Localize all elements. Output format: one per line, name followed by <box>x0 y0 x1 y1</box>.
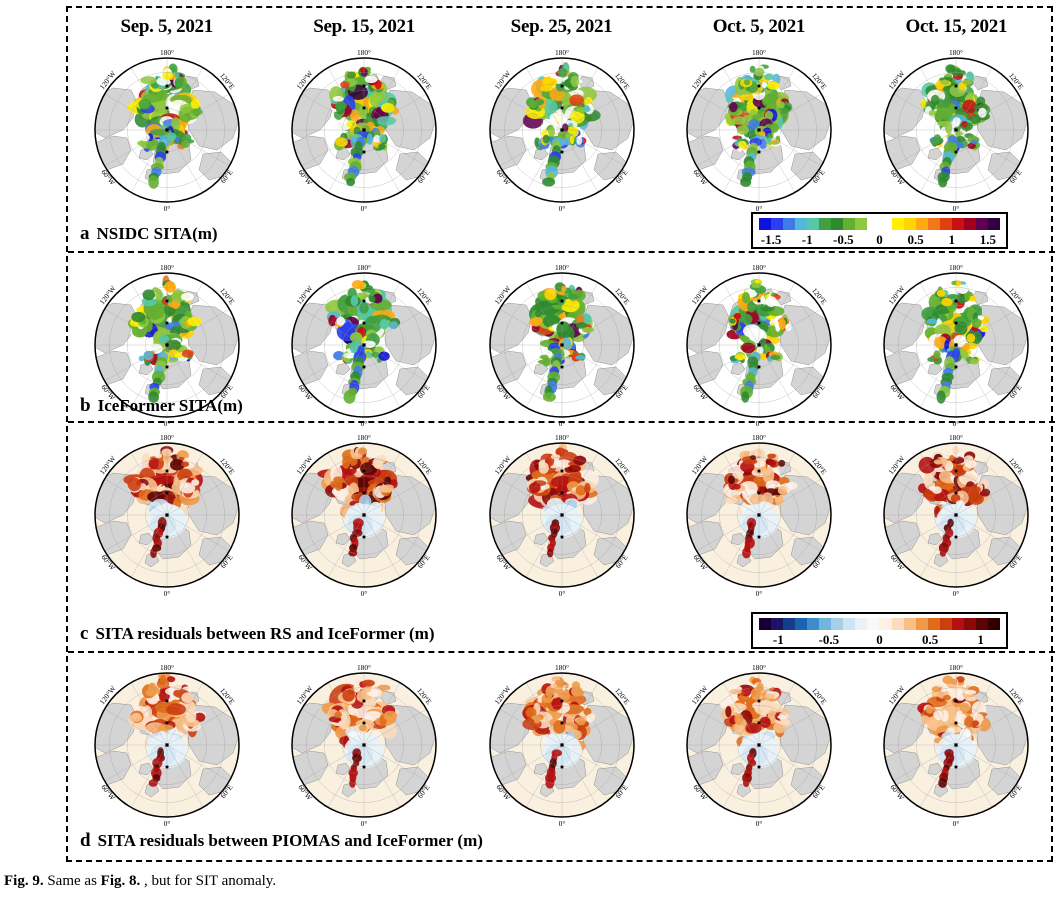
column-headers: Sep. 5, 2021 Sep. 15, 2021 Sep. 25, 2021… <box>68 16 1055 42</box>
colorbar-swatch-3 <box>795 218 807 230</box>
map-cell-c-2: 180°0°120°W120°E60°W60°E <box>463 429 660 607</box>
svg-text:180°: 180° <box>357 48 371 57</box>
svg-text:0°: 0° <box>558 819 565 828</box>
polar-map-c-4: 180°0°120°W120°E60°W60°E <box>872 431 1040 599</box>
polar-map-c-2: 180°0°120°W120°E60°W60°E <box>478 431 646 599</box>
map-cell-a-2: 180°0°120°W120°E60°W60°E <box>463 44 660 219</box>
map-cell-d-0: 180°0°120°W120°E60°W60°E <box>68 659 265 831</box>
colorbar-sita-gradient <box>759 218 1000 230</box>
column-header-4: Oct. 15, 2021 <box>858 16 1055 42</box>
colorbar-swatch-12 <box>904 618 916 630</box>
colorbar-swatch-16 <box>952 618 964 630</box>
colorbar-tick-0: -1 <box>753 632 804 648</box>
colorbar-swatch-11 <box>892 618 904 630</box>
map-cell-c-0: 180°0°120°W120°E60°W60°E <box>68 429 265 607</box>
svg-text:180°: 180° <box>752 433 766 442</box>
svg-text:0°: 0° <box>756 589 763 598</box>
colorbar-tick-1: -1 <box>789 232 825 248</box>
svg-text:0°: 0° <box>756 819 763 828</box>
colorbar-swatch-6 <box>831 618 843 630</box>
svg-text:180°: 180° <box>554 433 568 442</box>
colorbar-swatch-4 <box>807 218 819 230</box>
svg-text:0°: 0° <box>163 589 170 598</box>
svg-text:0°: 0° <box>163 819 170 828</box>
figure-caption-ref: Fig. 8. <box>101 873 141 889</box>
panel-d-letter: d <box>80 830 98 851</box>
colorbar-residual-gradient <box>759 618 1000 630</box>
colorbar-swatch-11 <box>892 218 904 230</box>
column-header-1: Sep. 15, 2021 <box>265 16 462 42</box>
colorbar-tick-3: 0.5 <box>905 632 956 648</box>
figure-caption-number: Fig. 9. <box>4 873 44 889</box>
polar-map-a-4: 180°0°120°W120°E60°W60°E <box>872 46 1040 214</box>
svg-text:0°: 0° <box>361 589 368 598</box>
svg-text:180°: 180° <box>752 263 766 272</box>
panel-d-residuals-piomas: 180°0°120°W120°E60°W60°E180°0°120°W120°E… <box>68 653 1055 860</box>
figure-caption-suffix: , but for SIT anomaly. <box>140 873 276 889</box>
colorbar-swatch-12 <box>904 218 916 230</box>
polar-map-a-3: 180°0°120°W120°E60°W60°E <box>675 46 843 214</box>
figure-caption: Fig. 9. Same as Fig. 8. , but for SIT an… <box>4 872 1044 892</box>
colorbar-swatch-4 <box>807 618 819 630</box>
colorbar-swatch-13 <box>916 618 928 630</box>
colorbar-swatch-3 <box>795 618 807 630</box>
colorbar-swatch-8 <box>855 618 867 630</box>
svg-text:0°: 0° <box>953 819 960 828</box>
svg-text:180°: 180° <box>752 48 766 57</box>
map-cell-b-2: 180°0°120°W120°E60°W60°E <box>463 259 660 431</box>
svg-text:180°: 180° <box>554 48 568 57</box>
colorbar-swatch-0 <box>759 218 771 230</box>
map-cell-d-3: 180°0°120°W120°E60°W60°E <box>660 659 857 831</box>
colorbar-swatch-2 <box>783 618 795 630</box>
svg-text:0°: 0° <box>361 819 368 828</box>
panel-b-letter: b <box>80 395 98 416</box>
svg-text:180°: 180° <box>554 263 568 272</box>
colorbar-swatch-10 <box>879 618 891 630</box>
colorbar-swatch-19 <box>988 218 1000 230</box>
svg-text:180°: 180° <box>160 263 174 272</box>
polar-map-d-1: 180°0°120°W120°E60°W60°E <box>280 661 448 829</box>
map-cell-c-1: 180°0°120°W120°E60°W60°E <box>265 429 462 607</box>
polar-map-a-2: 180°0°120°W120°E60°W60°E <box>478 46 646 214</box>
panel-d-title: SITA residuals between PIOMAS and IceFor… <box>98 831 483 850</box>
colorbar-tick-1: -0.5 <box>804 632 855 648</box>
polar-map-d-0: 180°0°120°W120°E60°W60°E <box>83 661 251 829</box>
map-strip-c: 180°0°120°W120°E60°W60°E180°0°120°W120°E… <box>68 429 1055 607</box>
panel-a-title: NSIDC SITA(m) <box>97 224 218 243</box>
colorbar-swatch-5 <box>819 618 831 630</box>
polar-map-b-3: 180°0°120°W120°E60°W60°E <box>675 261 843 429</box>
svg-text:180°: 180° <box>554 663 568 672</box>
colorbar-tick-6: 1.5 <box>970 232 1006 248</box>
colorbar-swatch-15 <box>940 618 952 630</box>
colorbar-tick-3: 0 <box>861 232 897 248</box>
polar-map-a-0: 180°0°120°W120°E60°W60°E <box>83 46 251 214</box>
svg-text:180°: 180° <box>949 263 963 272</box>
column-header-0: Sep. 5, 2021 <box>68 16 265 42</box>
figure-frame: Sep. 5, 2021 Sep. 15, 2021 Sep. 25, 2021… <box>66 6 1053 862</box>
polar-map-c-3: 180°0°120°W120°E60°W60°E <box>675 431 843 599</box>
map-cell-a-1: 180°0°120°W120°E60°W60°E <box>265 44 462 219</box>
colorbar-swatch-19 <box>988 618 1000 630</box>
colorbar-swatch-0 <box>759 618 771 630</box>
panel-b-title: IceFormer SITA(m) <box>98 396 243 415</box>
svg-text:0°: 0° <box>361 204 368 213</box>
svg-text:180°: 180° <box>357 263 371 272</box>
panel-b-iceformer-sita: 180°0°120°W120°E60°W60°E180°0°120°W120°E… <box>68 253 1055 423</box>
polar-map-d-2: 180°0°120°W120°E60°W60°E <box>478 661 646 829</box>
polar-map-a-1: 180°0°120°W120°E60°W60°E <box>280 46 448 214</box>
panel-b-caption: bIceFormer SITA(m) <box>80 395 243 417</box>
colorbar-tick-2: -0.5 <box>825 232 861 248</box>
figure-caption-mid: Same as <box>44 873 101 889</box>
svg-text:180°: 180° <box>160 663 174 672</box>
map-cell-b-1: 180°0°120°W120°E60°W60°E <box>265 259 462 431</box>
map-cell-b-4: 180°0°120°W120°E60°W60°E <box>858 259 1055 431</box>
colorbar-swatch-7 <box>843 218 855 230</box>
svg-text:180°: 180° <box>949 48 963 57</box>
svg-text:0°: 0° <box>163 204 170 213</box>
svg-text:180°: 180° <box>357 433 371 442</box>
colorbar-swatch-1 <box>771 618 783 630</box>
colorbar-swatch-13 <box>916 218 928 230</box>
colorbar-swatch-10 <box>879 218 891 230</box>
map-cell-a-0: 180°0°120°W120°E60°W60°E <box>68 44 265 219</box>
polar-map-d-4: 180°0°120°W120°E60°W60°E <box>872 661 1040 829</box>
colorbar-sita-ticks: -1.5-1-0.500.511.5 <box>753 231 1006 249</box>
colorbar-tick-4: 1 <box>955 632 1006 648</box>
panel-a-letter: a <box>80 223 97 244</box>
colorbar-swatch-9 <box>867 218 879 230</box>
polar-map-c-0: 180°0°120°W120°E60°W60°E <box>83 431 251 599</box>
svg-text:180°: 180° <box>949 663 963 672</box>
svg-text:0°: 0° <box>558 589 565 598</box>
svg-text:0°: 0° <box>558 204 565 213</box>
svg-text:180°: 180° <box>160 433 174 442</box>
colorbar-swatch-2 <box>783 218 795 230</box>
colorbar-residual: -1-0.500.51 <box>751 612 1008 649</box>
panel-c-residuals-rs: 180°0°120°W120°E60°W60°E180°0°120°W120°E… <box>68 423 1055 653</box>
column-header-2: Sep. 25, 2021 <box>463 16 660 42</box>
colorbar-tick-5: 1 <box>934 232 970 248</box>
polar-map-d-3: 180°0°120°W120°E60°W60°E <box>675 661 843 829</box>
polar-map-b-2: 180°0°120°W120°E60°W60°E <box>478 261 646 429</box>
colorbar-tick-0: -1.5 <box>753 232 789 248</box>
colorbar-swatch-17 <box>964 218 976 230</box>
colorbar-swatch-8 <box>855 218 867 230</box>
panel-a-caption: aNSIDC SITA(m) <box>80 223 218 245</box>
map-cell-a-4: 180°0°120°W120°E60°W60°E <box>858 44 1055 219</box>
colorbar-swatch-15 <box>940 218 952 230</box>
colorbar-swatch-1 <box>771 218 783 230</box>
colorbar-swatch-16 <box>952 218 964 230</box>
panel-c-title: SITA residuals between RS and IceFormer … <box>95 624 434 643</box>
svg-text:180°: 180° <box>949 433 963 442</box>
svg-text:180°: 180° <box>160 48 174 57</box>
map-strip-d: 180°0°120°W120°E60°W60°E180°0°120°W120°E… <box>68 659 1055 831</box>
map-cell-c-4: 180°0°120°W120°E60°W60°E <box>858 429 1055 607</box>
colorbar-sita: -1.5-1-0.500.511.5 <box>751 212 1008 249</box>
svg-text:0°: 0° <box>953 589 960 598</box>
colorbar-swatch-5 <box>819 218 831 230</box>
map-cell-d-2: 180°0°120°W120°E60°W60°E <box>463 659 660 831</box>
map-cell-c-3: 180°0°120°W120°E60°W60°E <box>660 429 857 607</box>
panel-a-nsidc-sita: Sep. 5, 2021 Sep. 15, 2021 Sep. 25, 2021… <box>68 8 1055 253</box>
colorbar-swatch-14 <box>928 218 940 230</box>
colorbar-tick-4: 0.5 <box>898 232 934 248</box>
panel-c-letter: c <box>80 623 95 644</box>
colorbar-swatch-17 <box>964 618 976 630</box>
column-header-3: Oct. 5, 2021 <box>660 16 857 42</box>
colorbar-swatch-14 <box>928 618 940 630</box>
polar-map-b-4: 180°0°120°W120°E60°W60°E <box>872 261 1040 429</box>
polar-map-c-1: 180°0°120°W120°E60°W60°E <box>280 431 448 599</box>
colorbar-swatch-7 <box>843 618 855 630</box>
map-cell-d-1: 180°0°120°W120°E60°W60°E <box>265 659 462 831</box>
colorbar-swatch-18 <box>976 218 988 230</box>
panel-c-caption: cSITA residuals between RS and IceFormer… <box>80 623 434 645</box>
colorbar-residual-ticks: -1-0.500.51 <box>753 631 1006 649</box>
map-cell-a-3: 180°0°120°W120°E60°W60°E <box>660 44 857 219</box>
polar-map-b-1: 180°0°120°W120°E60°W60°E <box>280 261 448 429</box>
colorbar-swatch-18 <box>976 618 988 630</box>
colorbar-tick-2: 0 <box>854 632 905 648</box>
svg-text:180°: 180° <box>357 663 371 672</box>
map-cell-d-4: 180°0°120°W120°E60°W60°E <box>858 659 1055 831</box>
panel-d-caption: dSITA residuals between PIOMAS and IceFo… <box>80 830 483 852</box>
map-cell-b-3: 180°0°120°W120°E60°W60°E <box>660 259 857 431</box>
colorbar-swatch-9 <box>867 618 879 630</box>
svg-text:180°: 180° <box>752 663 766 672</box>
map-strip-a: 180°0°120°W120°E60°W60°E180°0°120°W120°E… <box>68 44 1055 219</box>
colorbar-swatch-6 <box>831 218 843 230</box>
